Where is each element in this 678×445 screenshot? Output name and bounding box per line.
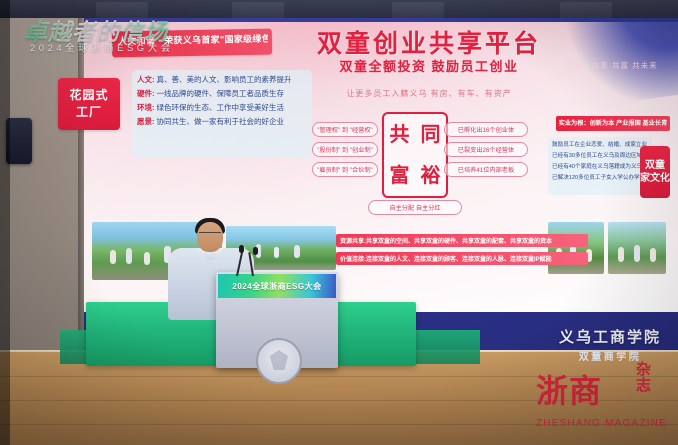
screen-bullet-panel: 人文: 真、善、美的人文、影响员工的素养提升 硬件: 一线品牌的硬件、保障员工者… bbox=[132, 70, 312, 158]
list-item: 鼓励员工在企业恋爱、结婚、成家立业 bbox=[552, 140, 648, 148]
speaker-glasses bbox=[199, 232, 221, 239]
ceiling-vent bbox=[392, 2, 444, 18]
bullet-key: 人文: bbox=[137, 74, 155, 85]
podium-led-banner-text: 2024全球浙商ESG大会 bbox=[232, 281, 321, 292]
garden-factory-card: 花园式 工厂 bbox=[58, 78, 120, 130]
slide-photo-group-right bbox=[608, 222, 666, 274]
bullet-key: 愿景: bbox=[137, 116, 155, 127]
seal-char-4: 裕 bbox=[421, 166, 441, 186]
ceiling-vent bbox=[232, 2, 284, 18]
bullet-value: 一线品牌的硬件、保障员工者品质生存 bbox=[157, 88, 285, 99]
list-item: 已经有30多位员工在义乌及周边区域置业 bbox=[552, 151, 648, 159]
slide-photo-group-left bbox=[548, 222, 604, 274]
list-item: 硬件: 一线品牌的硬件、保障员工者品质生存 bbox=[137, 88, 307, 99]
watermark-magazine-chars: 杂 志 bbox=[636, 362, 651, 394]
list-item: 已裂变出26个经营体 bbox=[444, 142, 528, 157]
list-item: 愿景: 协同共生、做一家有利于社会的好企业 bbox=[137, 116, 307, 127]
podium-led-banner: 2024全球浙商ESG大会 bbox=[218, 274, 336, 298]
seal-char-2: 同 bbox=[421, 125, 441, 145]
value-connection-strip-text: 价值连接:连接双童的人文、连接双童的顾客、连接双童的人脉、连接双童IP赋能 bbox=[340, 254, 586, 263]
seal-caption: 自主分配 自主分红 bbox=[368, 200, 462, 215]
garden-factory-card-line2: 工厂 bbox=[76, 106, 102, 119]
watermark-char-zhi: 志 bbox=[636, 378, 651, 394]
bullet-key: 环境: bbox=[137, 102, 155, 113]
list-item: 已解决120多位员工子女入学公办学校 bbox=[552, 173, 648, 181]
watermark-english: ZHESHANG MAGAZINE bbox=[536, 418, 678, 429]
watermark-zheshang: 浙商 bbox=[536, 366, 678, 412]
family-culture-card: 双童 家文化 bbox=[640, 146, 670, 198]
industry-banner-text: 实业为根：创新为本 产业报国 基业长青 bbox=[556, 118, 670, 127]
conference-photo-stage: 人文和谐 · 荣获义乌首家"国家级绿色工厂" 双童创业共享平台 双童全额投资 鼓… bbox=[0, 0, 678, 445]
list-item: "雇员制" 到 "合伙制" bbox=[312, 162, 378, 177]
common-prosperity-seal: 共 同 富 裕 bbox=[382, 112, 448, 198]
family-culture-card-line1: 双童 bbox=[645, 160, 665, 171]
bullet-key: 硬件: bbox=[137, 88, 155, 99]
wall-logo-institute: 义乌工商学院 bbox=[542, 326, 678, 347]
list-item: 已经有40个家庭在义乌落籍成为义乌人 bbox=[552, 162, 648, 170]
garden-factory-card-line1: 花园式 bbox=[69, 89, 108, 102]
screen-right-fact-panel: 鼓励员工在企业恋爱、结婚、成家立业 已经有30多位员工在义乌及周边区域置业 已经… bbox=[548, 137, 652, 195]
family-culture-card-line2: 家文化 bbox=[640, 173, 670, 184]
screen-subtitle: 双童全额投资 鼓励员工创业 bbox=[306, 56, 552, 75]
bullet-value: 真、善、美的人文、影响员工的素养提升 bbox=[157, 74, 292, 85]
wall-left-panel bbox=[0, 18, 84, 358]
list-item: "股份制" 到 "创业制" bbox=[312, 142, 378, 157]
left-dark-pillar bbox=[0, 0, 10, 445]
list-item: 已孵化出16个创业体 bbox=[444, 122, 528, 137]
microphone-head bbox=[239, 245, 244, 253]
achievement-capsule-list: 已孵化出16个创业体 已裂变出26个经营体 已培养41位内部老板 bbox=[444, 122, 528, 182]
seal-char-1: 共 bbox=[390, 125, 410, 145]
overlay-subtitle: 2024全球浙商ESG大会 bbox=[30, 40, 174, 54]
microphone-head bbox=[253, 247, 258, 255]
ceiling-vent bbox=[560, 2, 612, 18]
resource-sharing-strip-text: 资源共享:共享双童的空间、共享双童的硬件、共享双童的配套、共享双童的资本 bbox=[340, 236, 586, 245]
bullet-value: 绿色环保的生态、工作中享受美好生活 bbox=[157, 102, 285, 113]
transform-capsule-list: "管理权" 到 "经营权" "股份制" 到 "创业制" "雇员制" 到 "合伙制… bbox=[312, 122, 378, 182]
podium-emblem bbox=[256, 338, 302, 384]
list-item: 已培养41位内部老板 bbox=[444, 162, 528, 177]
screen-title: 双童创业共享平台 bbox=[306, 24, 552, 60]
list-item: 环境: 绿色环保的生态、工作中享受美好生活 bbox=[137, 102, 307, 113]
screen-subtitle-secondary: 让更多员工入籍义乌 有房、有车、有资产 bbox=[306, 88, 552, 99]
screen-slogan-tag: 追求：共享 共富 共未来 bbox=[552, 60, 672, 71]
list-item: 人文: 真、善、美的人文、影响员工的素养提升 bbox=[137, 74, 307, 85]
wall-logo-business-school: 双童商学院 bbox=[542, 348, 678, 363]
list-item: "管理权" 到 "经营权" bbox=[312, 122, 378, 137]
watermark-char-za: 杂 bbox=[636, 362, 651, 378]
bullet-value: 协同共生、做一家有利于社会的好企业 bbox=[157, 116, 285, 127]
seal-char-3: 富 bbox=[390, 166, 410, 186]
